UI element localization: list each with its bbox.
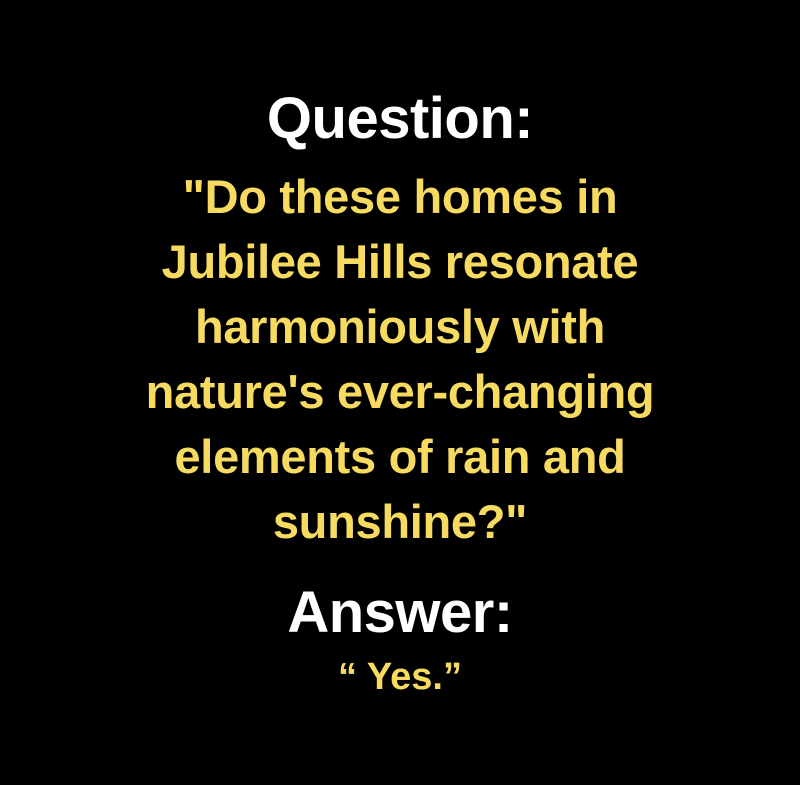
question-line-3: harmoniously with (120, 294, 680, 359)
question-line-6: sunshine?" (120, 489, 680, 554)
question-line-5: elements of rain and (120, 424, 680, 489)
answer-heading: Answer: (0, 582, 800, 644)
question-heading: Question: (0, 88, 800, 150)
question-line-1: "Do these homes in (120, 164, 680, 229)
question-body: "Do these homes in Jubilee Hills resonat… (120, 164, 680, 554)
question-line-4: nature's ever-changing (120, 359, 680, 424)
answer-body: “ Yes.” (0, 654, 800, 700)
question-line-2: Jubilee Hills resonate (120, 229, 680, 294)
qa-card: Question: "Do these homes in Jubilee Hil… (0, 0, 800, 785)
